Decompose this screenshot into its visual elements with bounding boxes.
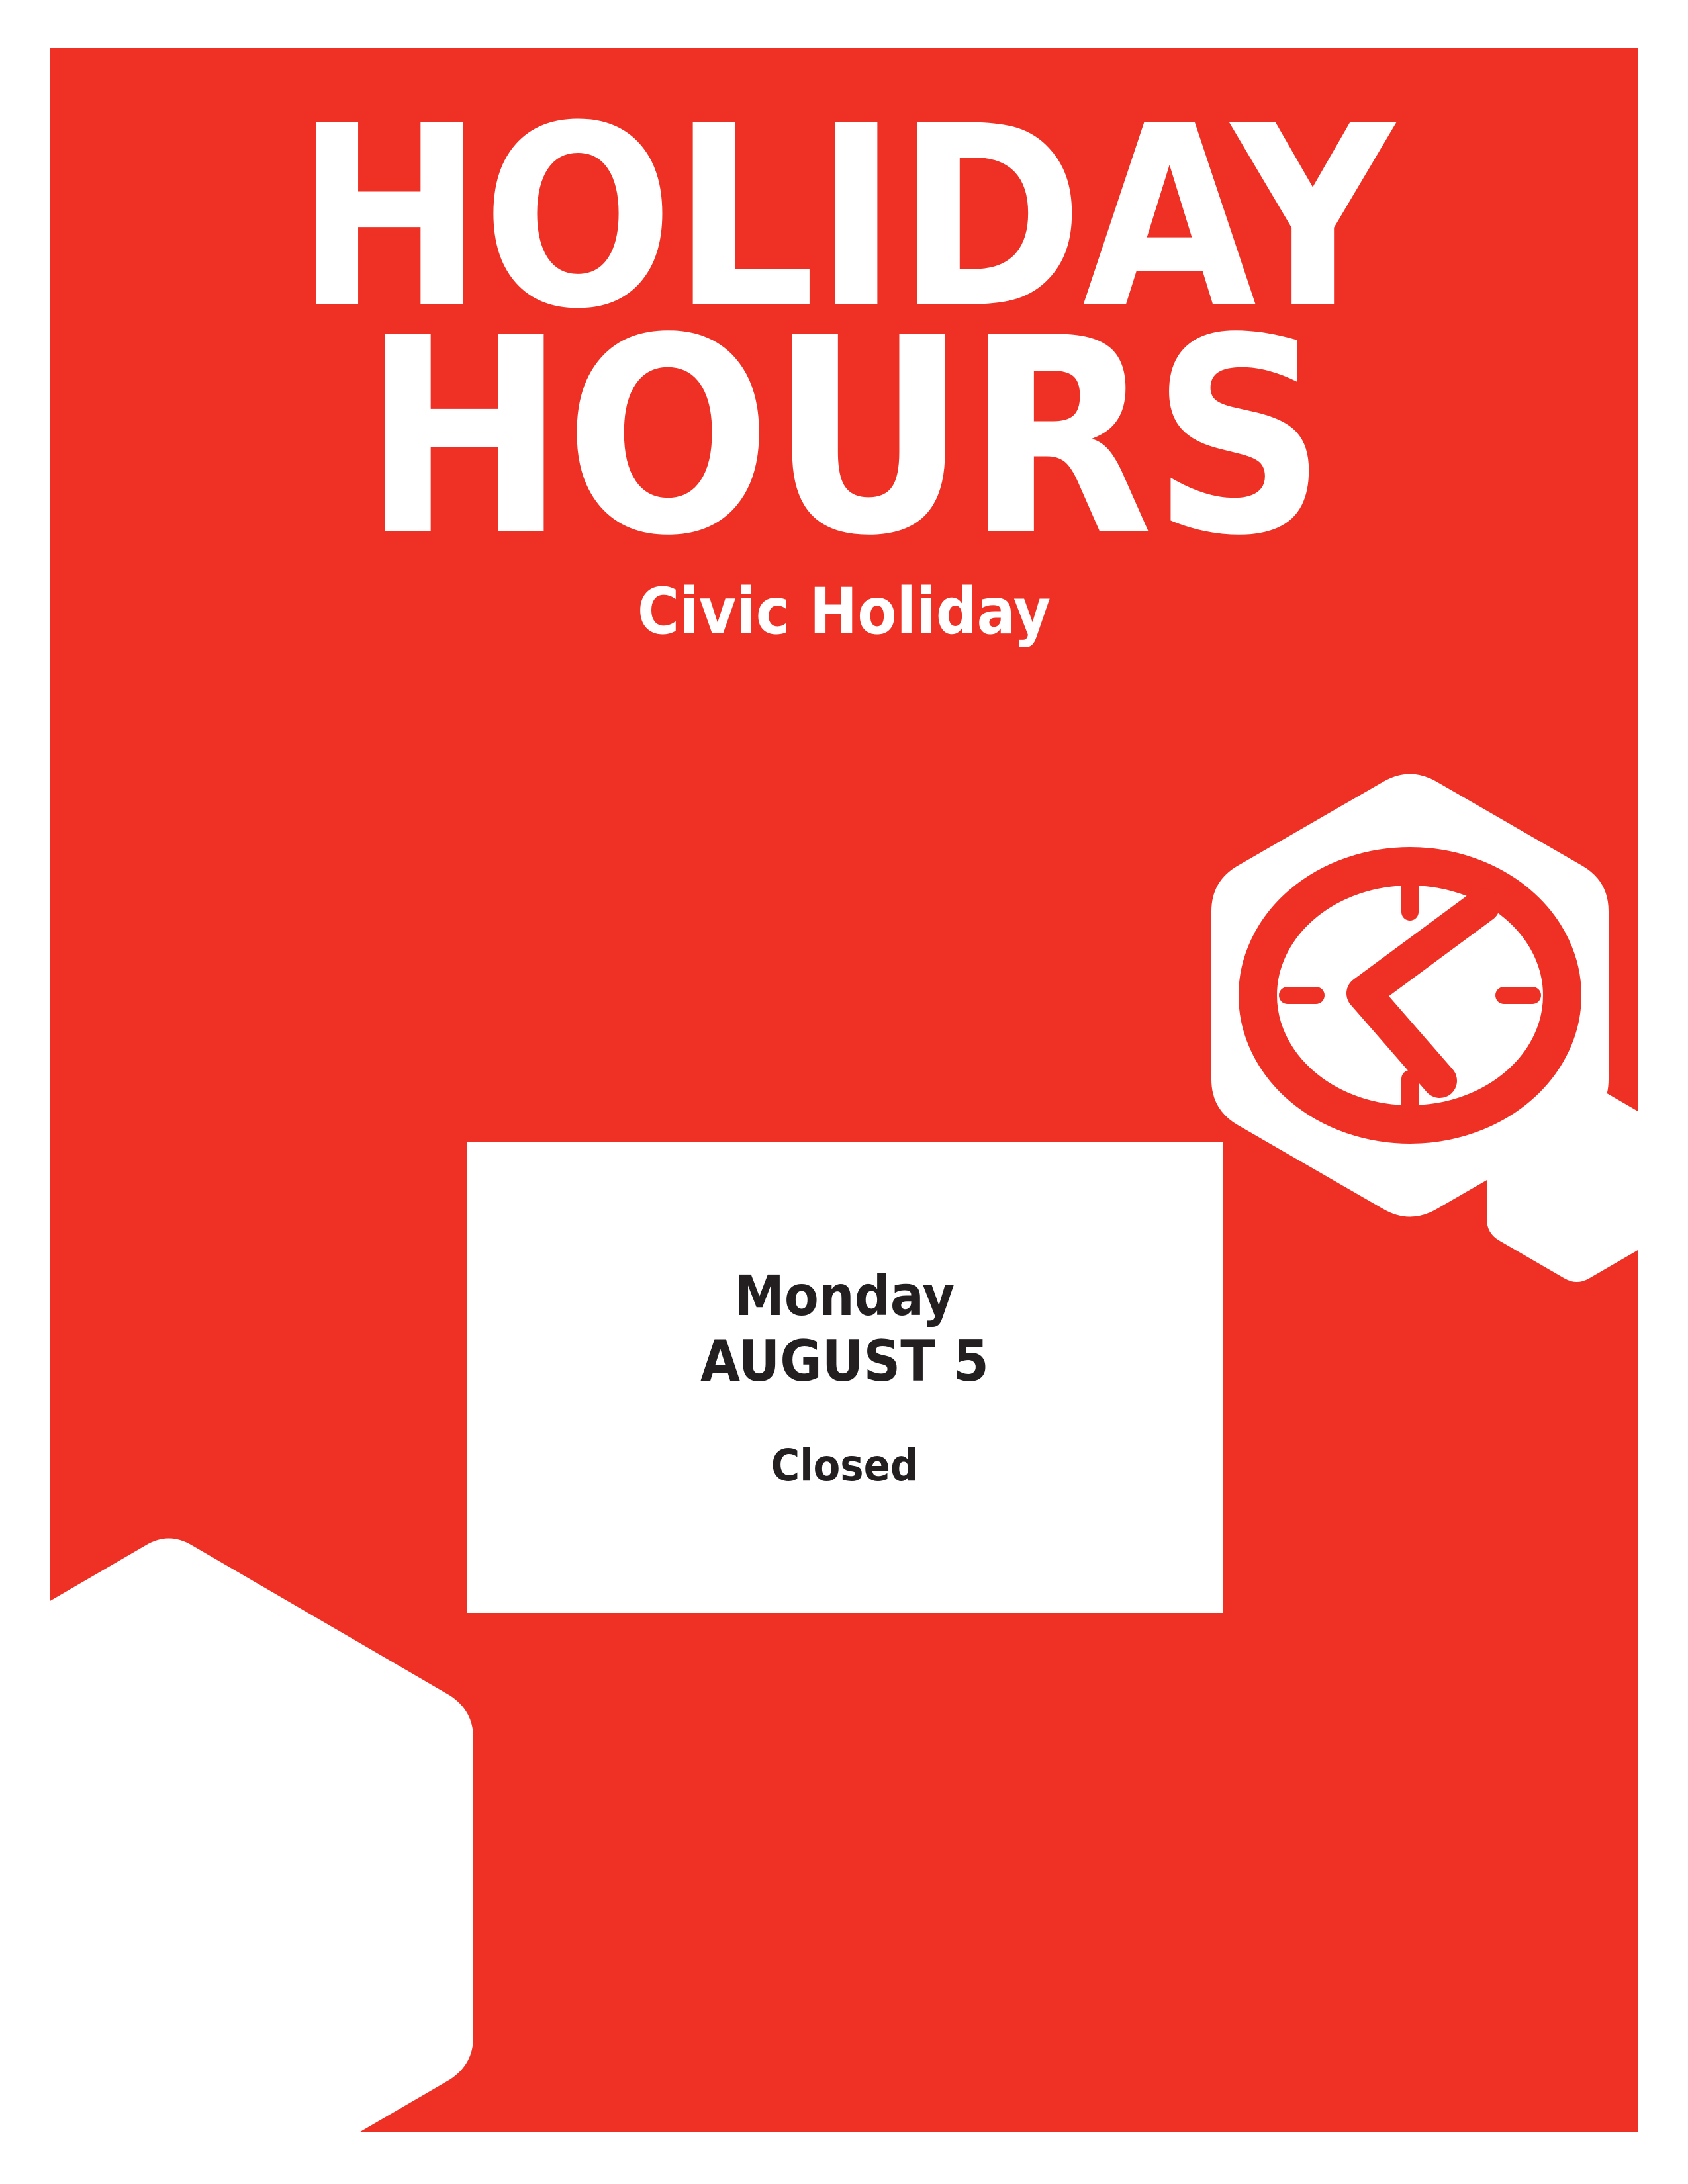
poster-background-panel: HOLIDAY HOURS Civic Holiday Monday AUGUS… — [50, 48, 1638, 2132]
hexagon-shape-small — [1487, 1079, 1638, 1282]
page-title-line-2: HOURS — [50, 322, 1638, 555]
hexagon-shape — [1211, 774, 1609, 1217]
schedule-day: Monday — [735, 1265, 955, 1327]
page-subtitle: Civic Holiday — [50, 580, 1638, 643]
clock-icon — [1258, 866, 1562, 1124]
poster-title-block: HOLIDAY HOURS Civic Holiday — [50, 111, 1638, 643]
hexagon-shape-corner — [50, 1539, 473, 2133]
schedule-card: Monday AUGUST 5 Closed — [467, 1142, 1223, 1613]
schedule-date: AUGUST 5 — [700, 1330, 989, 1393]
schedule-status: Closed — [771, 1442, 919, 1490]
holiday-hours-poster: HOLIDAY HOURS Civic Holiday Monday AUGUS… — [0, 0, 1688, 2184]
